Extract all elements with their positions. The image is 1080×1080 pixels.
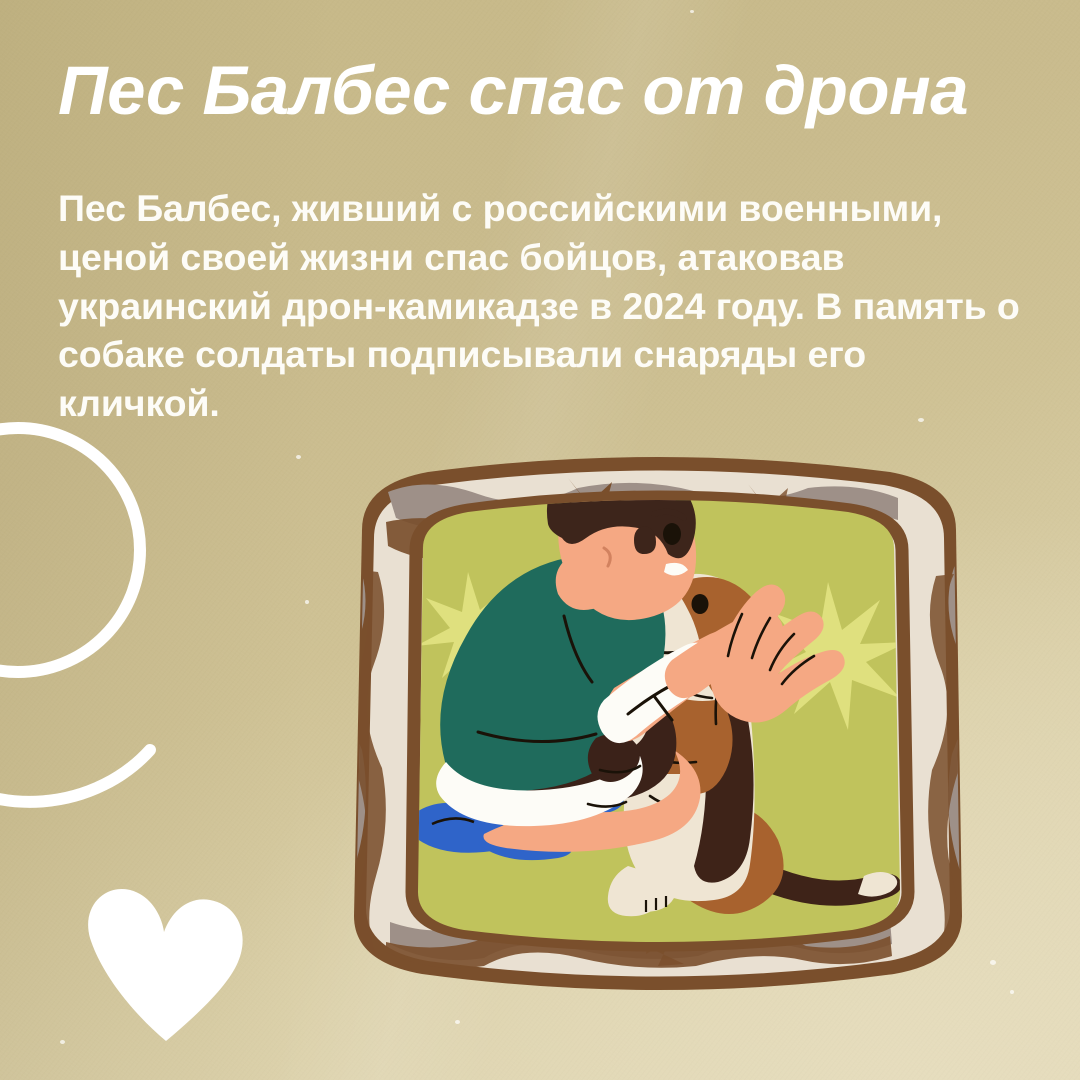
- paper-speck: [990, 960, 996, 965]
- man-eye: [663, 523, 681, 545]
- paper-speck: [296, 455, 301, 459]
- paper-speck: [60, 1040, 65, 1044]
- illustration-scene: [328, 452, 988, 992]
- heart-icon: [88, 889, 243, 1041]
- paper-speck: [455, 1020, 460, 1024]
- page-title: Пес Балбес спас от дрона: [58, 56, 1048, 126]
- paper-speck: [690, 10, 694, 13]
- heart-shape: [78, 880, 248, 1045]
- body-paragraph: Пес Балбес, живший с российскими военным…: [58, 184, 1038, 428]
- poster-canvas: Пес Балбес спас от дрона Пес Балбес, жив…: [0, 0, 1080, 1080]
- hair-curl-detail: [584, 473, 658, 496]
- circle-outline-upper: [0, 428, 140, 672]
- dog-eye: [692, 594, 709, 614]
- paper-speck: [1010, 990, 1014, 994]
- illustration-frame: [328, 452, 988, 992]
- paper-speck: [305, 600, 309, 604]
- decorative-circles: [0, 420, 290, 840]
